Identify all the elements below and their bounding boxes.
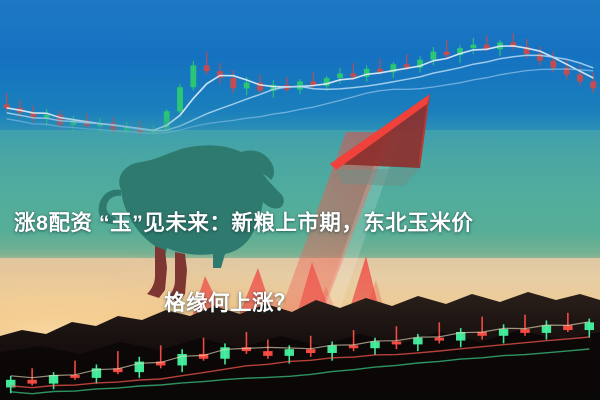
page-title: 涨8配资 “玉”见未来：新粮上市期，东北玉米价 格缘何上涨？	[0, 163, 600, 363]
title-line-1: 涨8配资 “玉”见未来：新粮上市期，东北玉米价	[8, 203, 592, 243]
banner-image: 涨8配资 “玉”见未来：新粮上市期，东北玉米价 格缘何上涨？	[0, 0, 600, 400]
title-line-2: 格缘何上涨？	[8, 283, 592, 323]
